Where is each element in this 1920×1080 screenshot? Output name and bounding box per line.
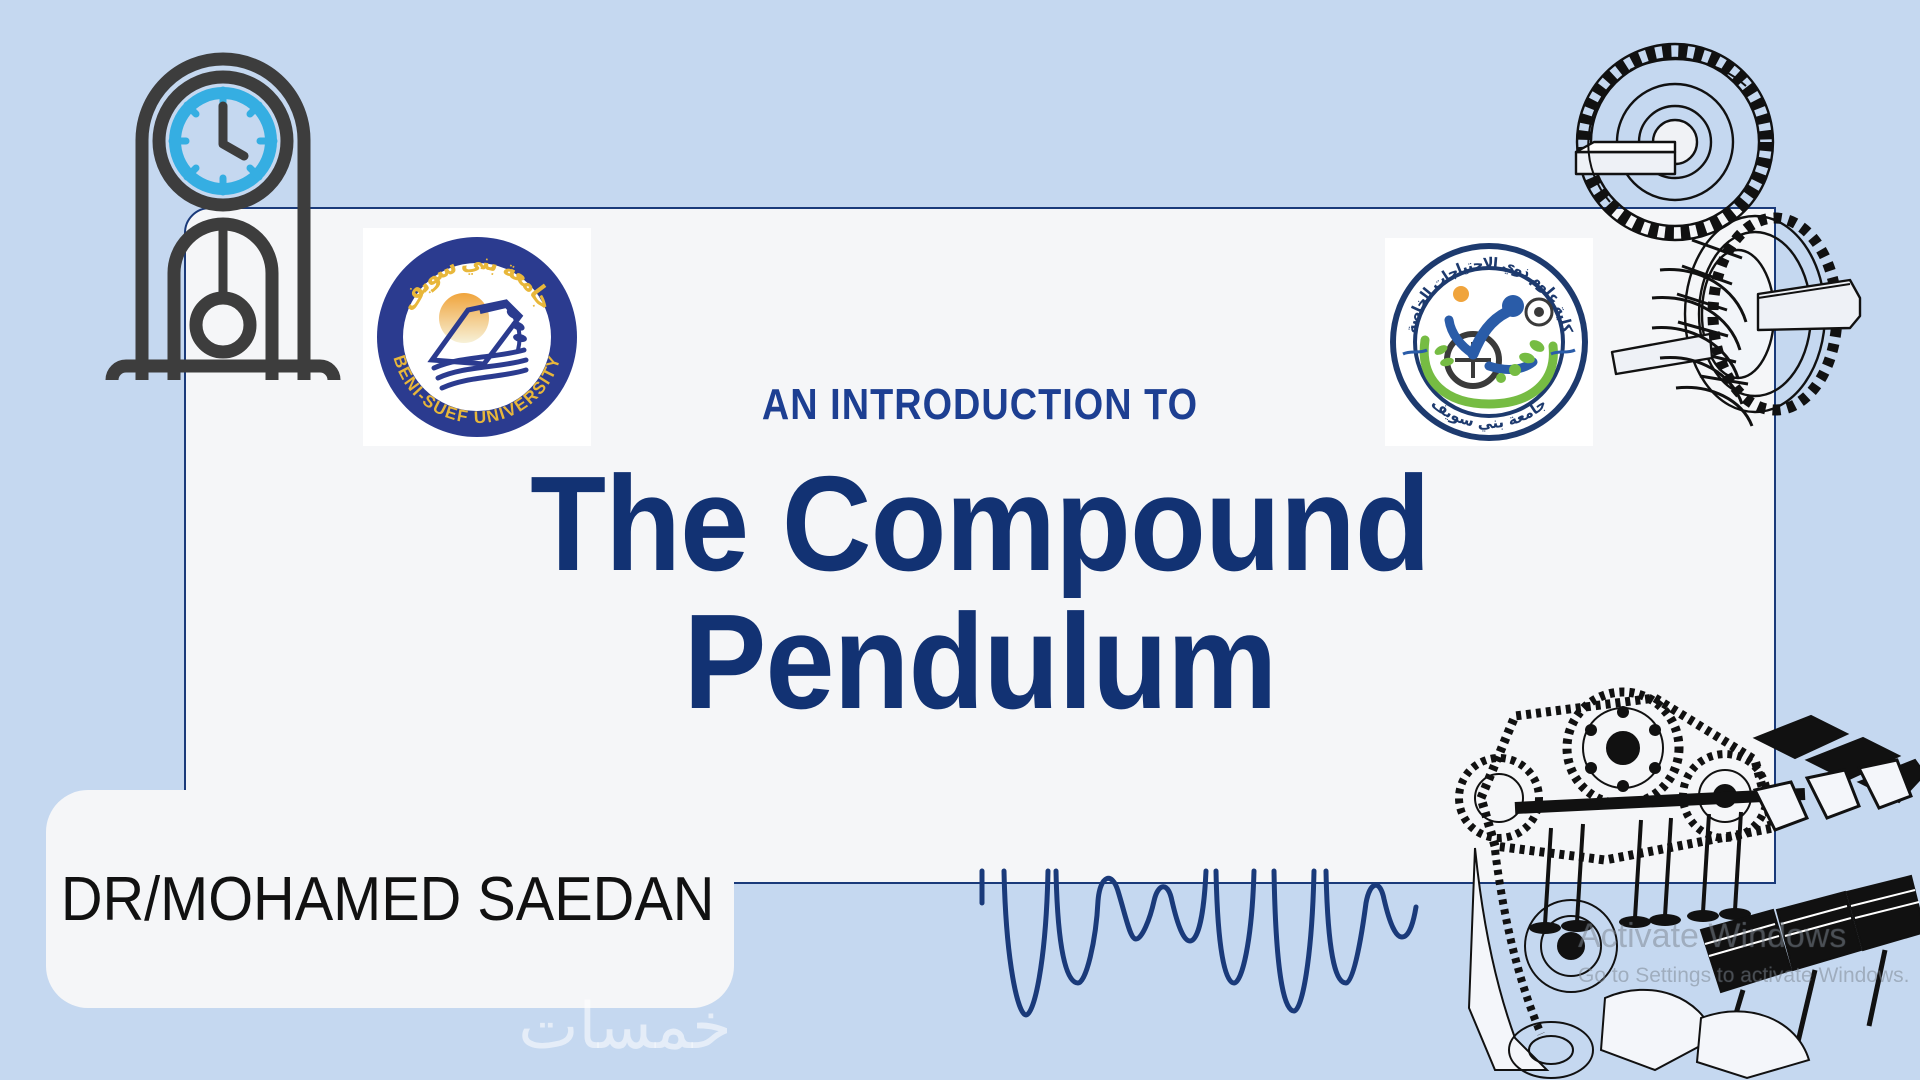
slide-eyebrow: AN INTRODUCTION TO — [295, 380, 1664, 430]
presentation-slide: جامعة بني سويف BENI-SUEF UNIVERSITY — [0, 0, 1920, 1080]
title-line-1: The Compound — [354, 455, 1605, 593]
page-title: The Compound Pendulum — [354, 455, 1605, 730]
pendulum-clock-illustration — [96, 28, 350, 380]
windows-watermark-title: Activate Windows — [1578, 912, 1910, 961]
windows-activation-watermark: Activate Windows Go to Settings to activ… — [1578, 912, 1910, 992]
khamsat-watermark: خمسات — [0, 990, 1250, 1064]
presenter-name: DR/MOHAMED SAEDAN — [46, 864, 714, 935]
engine-cutaway-sketch — [1455, 678, 1920, 1080]
windows-watermark-subtitle: Go to Settings to activate Windows. — [1578, 961, 1910, 991]
presenter-card: DR/MOHAMED SAEDAN — [46, 790, 734, 1008]
title-line-2: Pendulum — [354, 593, 1605, 731]
